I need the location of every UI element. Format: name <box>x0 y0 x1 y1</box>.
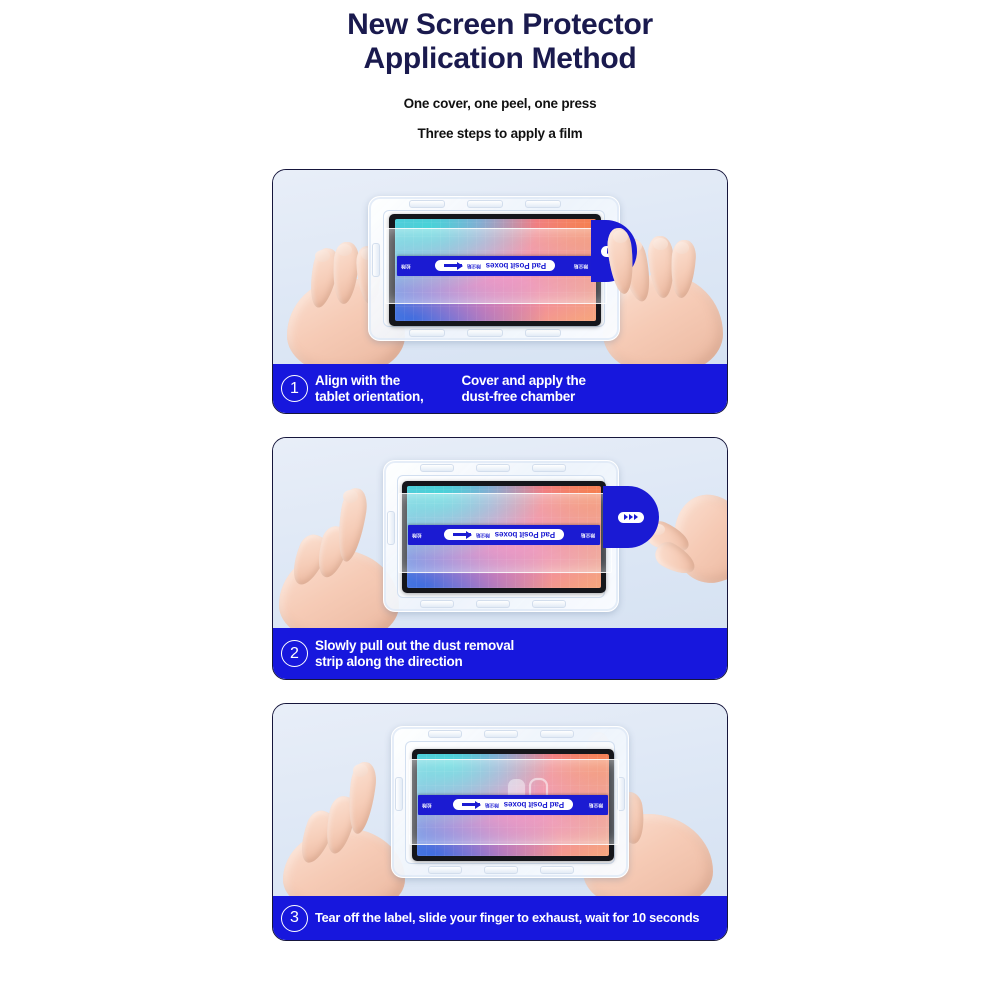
dust-free-chamber-tray: 除尘贴 Pad Posit boxes 除尘贴 拉除 <box>383 460 619 612</box>
tablet-bezel: 除尘贴 Pad Posit boxes 除尘贴 拉除 <box>402 481 606 593</box>
page-subtitle-secondary: Three steps to apply a film <box>0 126 1000 141</box>
sticker-side-right-text: 拉除 <box>401 263 411 270</box>
tablet-bezel: 除尘贴 Pad Posit boxes 除尘贴 拉除 <box>412 749 614 861</box>
sticker-direction-arrow-icon <box>462 804 480 807</box>
infographic-page: New Screen Protector Application Method … <box>0 0 1000 1000</box>
step-1-caption-primary: Align with the tablet orientation, <box>315 373 424 405</box>
dust-free-chamber-tray: 除尘贴 Pad Posit boxes 除尘贴 拉除 <box>368 196 620 341</box>
sticker-direction-arrow-icon <box>444 265 462 268</box>
step-3-photo: 除尘贴 Pad Posit boxes 除尘贴 拉除 <box>273 704 727 898</box>
step-3-number: 3 <box>281 905 308 932</box>
page-title-line-1: New Screen Protector <box>0 8 1000 42</box>
dust-removal-strip-sticker: 除尘贴 Pad Posit boxes 除尘贴 拉除 <box>408 525 600 545</box>
sticker-side-left-text: 除尘贴 <box>581 532 595 538</box>
sticker-brand-text: Pad Posit boxes <box>486 262 546 271</box>
sticker-brand-text: Pad Posit boxes <box>495 531 555 540</box>
page-subtitle-primary: One cover, one peel, one press <box>0 96 1000 111</box>
tablet-bezel: 除尘贴 Pad Posit boxes 除尘贴 拉除 <box>389 214 601 326</box>
sticker-sub-text: 除尘贴 <box>485 802 499 808</box>
sticker-side-left-text: 除尘贴 <box>574 263 588 269</box>
sticker-pill: Pad Posit boxes 除尘贴 <box>453 800 573 811</box>
chevron-right-icon-2 <box>629 514 633 520</box>
page-header: New Screen Protector Application Method … <box>0 0 1000 141</box>
chevron-right-icon-1 <box>624 514 628 520</box>
pressing-finger-nail <box>613 230 628 243</box>
sticker-side-left-text: 除尘贴 <box>589 802 603 808</box>
step-1-caption: 1 Align with the tablet orientation, Cov… <box>273 364 727 413</box>
step-2-caption-primary: Slowly pull out the dust removal strip a… <box>315 638 514 670</box>
sticker-direction-arrow-icon <box>453 534 471 537</box>
dust-removal-strip-sticker: 除尘贴 Pad Posit boxes 除尘贴 拉除 <box>397 256 593 276</box>
step-3-caption-primary: Tear off the label, slide your finger to… <box>315 910 699 926</box>
sticker-sub-text: 除尘贴 <box>476 532 490 538</box>
step-2-number: 2 <box>281 640 308 667</box>
step-1-number: 1 <box>281 375 308 402</box>
step-2-photo: 除尘贴 Pad Posit boxes 除尘贴 拉除 <box>273 438 727 630</box>
sticker-pill: Pad Posit boxes 除尘贴 <box>444 530 564 541</box>
left-index-finger-nail <box>353 764 368 777</box>
sticker-sub-text: 除尘贴 <box>467 263 481 269</box>
page-title-line-2: Application Method <box>0 42 1000 76</box>
page-title: New Screen Protector Application Method <box>0 8 1000 76</box>
dust-removal-strip-sticker: 除尘贴 Pad Posit boxes 除尘贴 拉除 <box>418 795 608 815</box>
step-1-photo: 除尘贴 Pad Posit boxes 除尘贴 拉除 <box>273 170 727 366</box>
chevron-right-icon-3 <box>634 514 638 520</box>
pointing-index-finger-nail <box>343 490 358 503</box>
step-panel-3: 除尘贴 Pad Posit boxes 除尘贴 拉除 3 Tear off th… <box>272 703 728 941</box>
step-1-caption-secondary: Cover and apply the dust-free chamber <box>462 373 586 405</box>
sticker-pill: Pad Posit boxes 除尘贴 <box>435 261 555 272</box>
step-3-caption: 3 Tear off the label, slide your finger … <box>273 896 727 940</box>
step-panel-2: 除尘贴 Pad Posit boxes 除尘贴 拉除 <box>272 437 728 680</box>
dust-free-chamber-tray: 除尘贴 Pad Posit boxes 除尘贴 拉除 <box>391 726 629 878</box>
sticker-brand-text: Pad Posit boxes <box>504 801 564 810</box>
pull-tab-grip <box>618 512 644 523</box>
step-panel-1: 除尘贴 Pad Posit boxes 除尘贴 拉除 <box>272 169 728 414</box>
step-2-caption: 2 Slowly pull out the dust removal strip… <box>273 628 727 679</box>
sticker-side-right-text: 拉除 <box>422 802 432 809</box>
sticker-side-right-text: 拉除 <box>412 532 422 539</box>
